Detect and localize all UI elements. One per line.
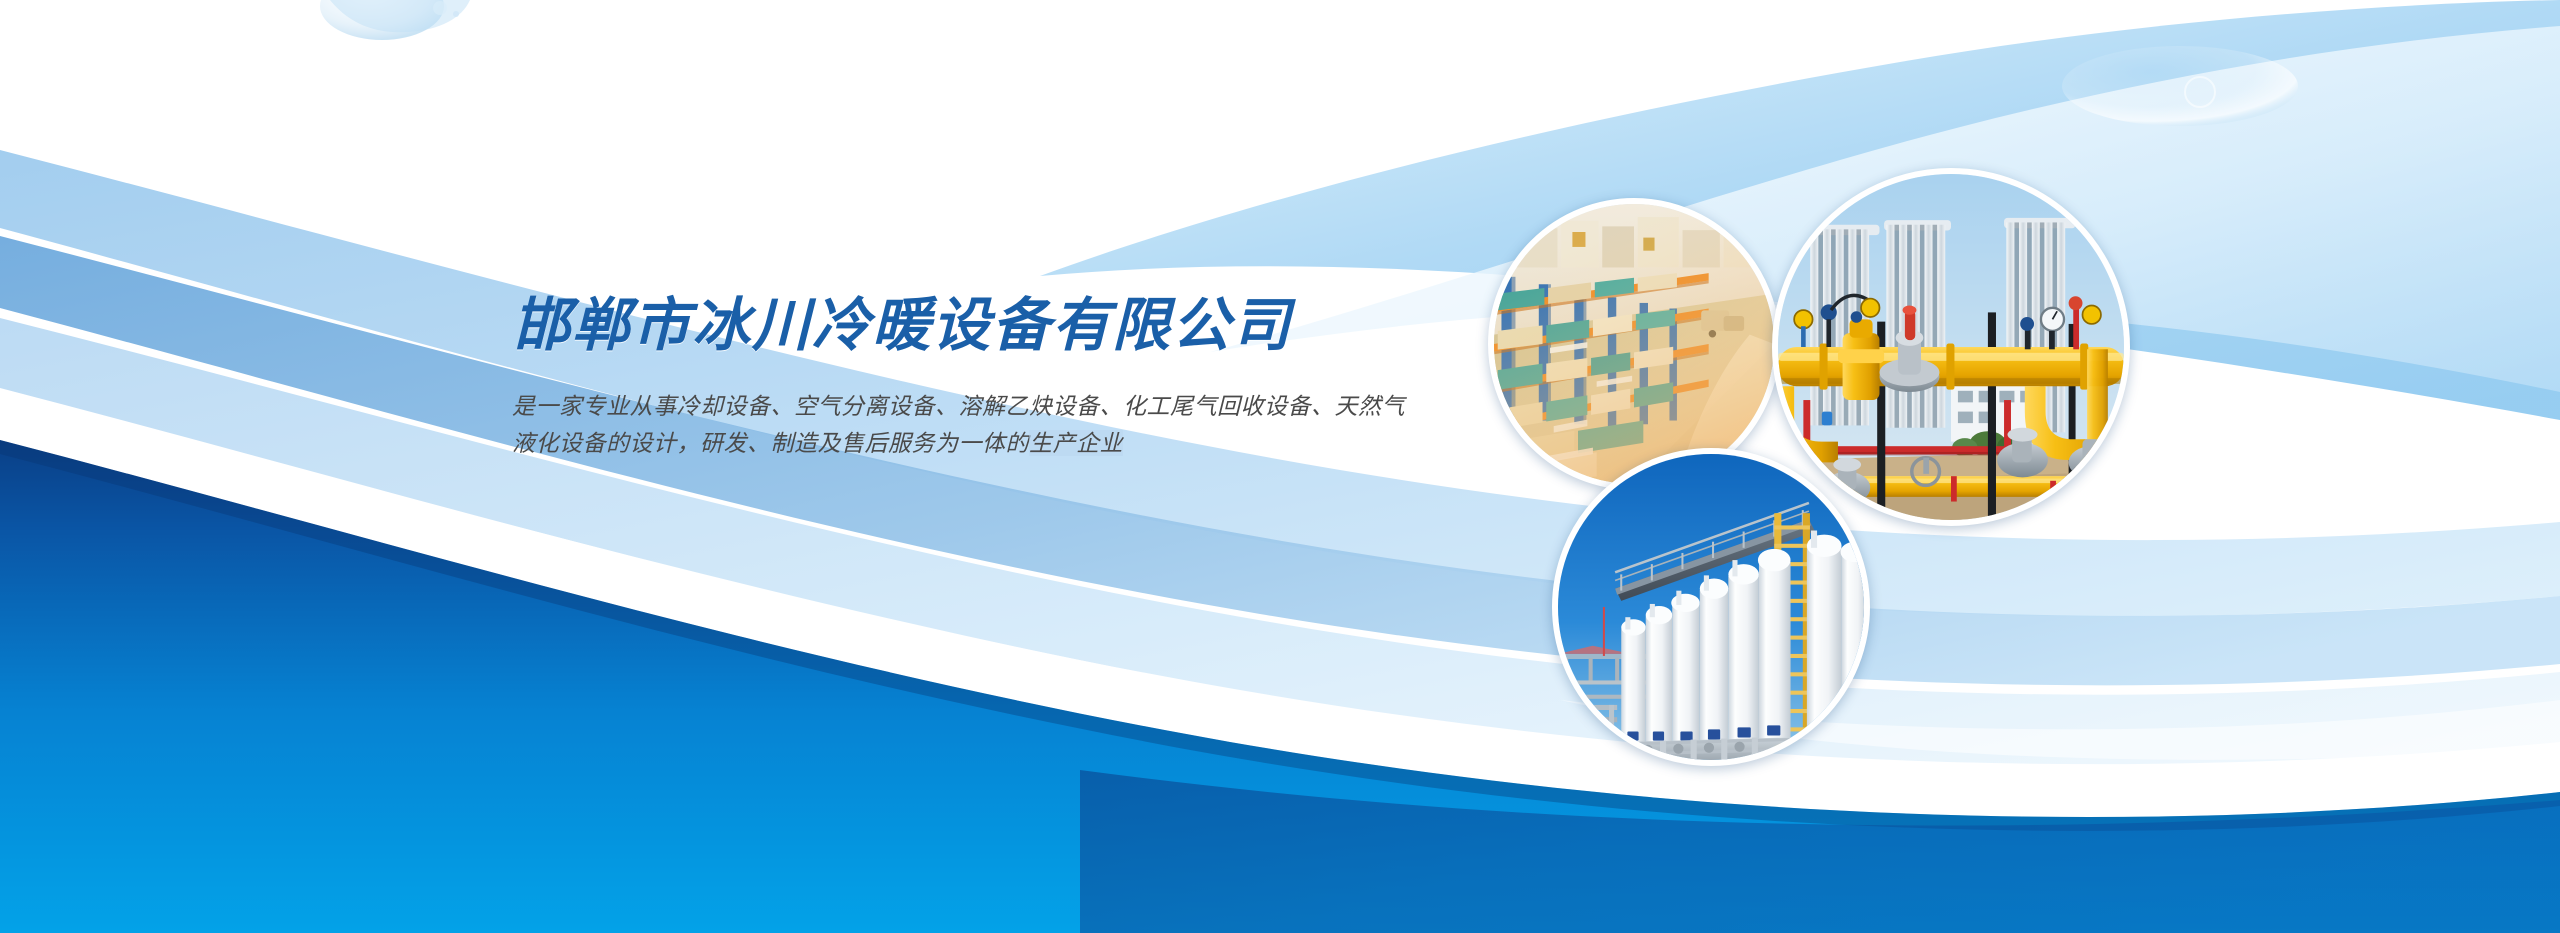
banner-text-block: 邯郸市冰川冷暖设备有限公司 是一家专业从事冷却设备、空气分离设备、溶解乙炔设备、…	[512, 296, 1522, 463]
photo-circle-warehouse	[1488, 198, 1780, 490]
photo-circle-storage-tanks	[1552, 448, 1870, 766]
description-line-1: 是一家专业从事冷却设备、空气分离设备、溶解乙炔设备、化工尾气回收设备、天然气	[512, 393, 1405, 419]
gas-pipeline-station-illustration	[1778, 174, 2124, 520]
background-wave-art	[0, 0, 2560, 933]
page-title: 邯郸市冰川冷暖设备有限公司	[512, 296, 1522, 354]
company-banner: 邯郸市冰川冷暖设备有限公司 是一家专业从事冷却设备、空气分离设备、溶解乙炔设备、…	[0, 0, 2560, 933]
cryogenic-storage-tanks-illustration	[1558, 454, 1864, 760]
photo-circle-gas-pipeline	[1772, 168, 2130, 526]
warehouse-racking-illustration	[1494, 204, 1774, 484]
description-line-2-highlight: 生产企业	[1029, 430, 1123, 456]
company-description: 是一家专业从事冷却设备、空气分离设备、溶解乙炔设备、化工尾气回收设备、天然气 液…	[512, 388, 1502, 463]
description-line-2-prefix: 液化设备的设计，研发、制造及售后服务为一体的	[512, 430, 1029, 456]
